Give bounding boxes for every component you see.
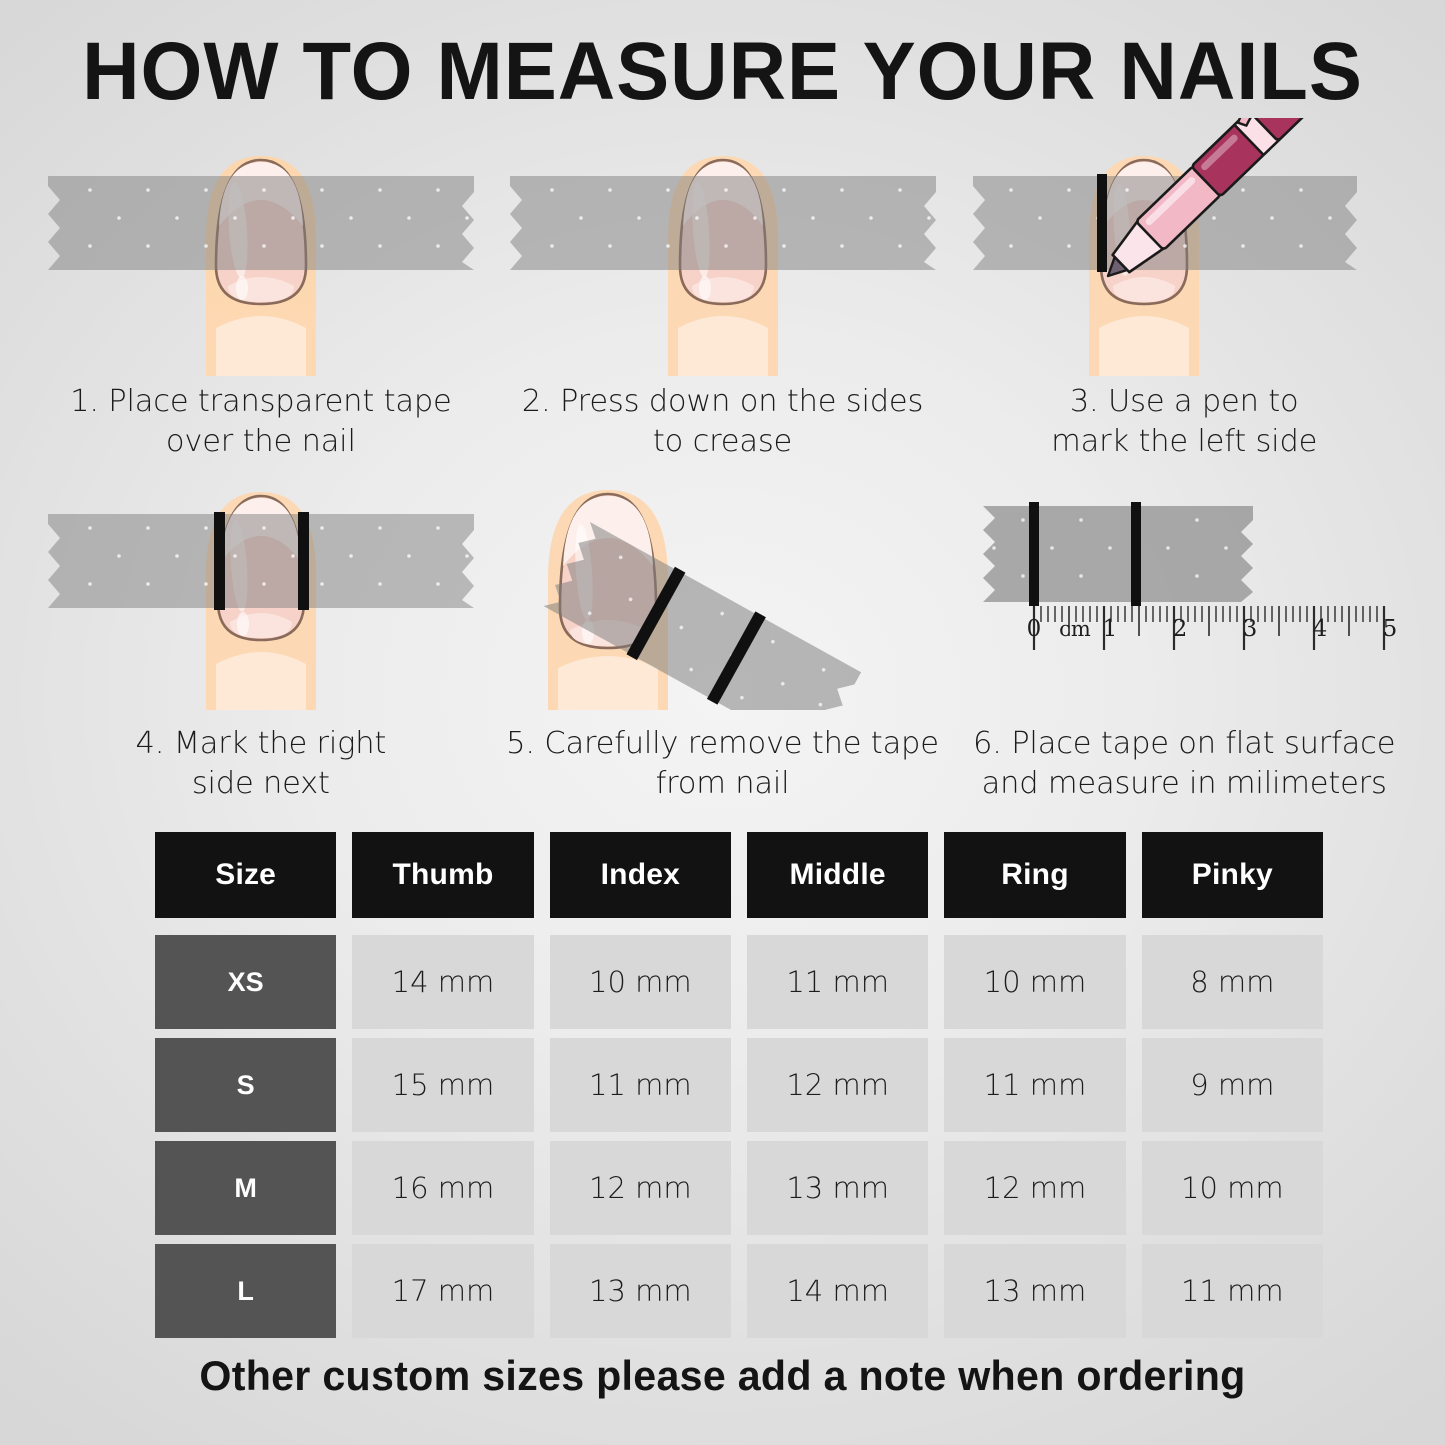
step-4-caption: 4. Mark the right side next [30,710,492,804]
step-2-illustration [492,118,954,376]
svg-text:5: 5 [1383,616,1398,642]
table-cell: 10 mm [550,935,731,1029]
table-cell: 11 mm [1142,1244,1323,1338]
svg-text:cm: cm [1059,617,1091,641]
table-cell: 15 mm [352,1038,533,1132]
table-header-pinky: Pinky [1142,832,1323,918]
table-cell: 9 mm [1142,1038,1323,1132]
table-cell: 11 mm [944,1038,1125,1132]
table-cell: 13 mm [944,1244,1125,1338]
step-1-caption-line2: over the nail [30,422,492,462]
table-header-ring: Ring [944,832,1125,918]
step-5-caption-line2: from nail [492,764,954,804]
step-4-caption-line2: side next [30,764,492,804]
step-6-illustration: 0 cm 1 2 3 4 5 [953,462,1415,710]
step-2-caption: 2. Press down on the sides to crease [492,376,954,462]
step-3-caption: 3. Use a pen to mark the left side [953,376,1415,462]
step-2-caption-line2: to crease [492,422,954,462]
step-5-caption-line1: 5. Carefully remove the tape [492,724,954,764]
table-cell: 17 mm [352,1244,533,1338]
step-4-illustration [30,462,492,710]
footer-note: Other custom sizes please add a note whe… [14,1352,1430,1400]
step-3-illustration [953,118,1415,376]
table-cell: 11 mm [747,935,928,1029]
table-cell: 14 mm [352,935,533,1029]
svg-text:3: 3 [1243,616,1258,642]
table-size-s: S [155,1038,336,1132]
step-1: 1. Place transparent tape over the nail [30,118,492,462]
table-header-middle: Middle [747,832,928,918]
size-table: SizeThumbIndexMiddleRingPinkyXS14 mm10 m… [155,832,1323,1347]
table-size-m: M [155,1141,336,1235]
step-6-caption-line2: and measure in milimeters [953,764,1415,804]
pen-mark-left [214,512,225,610]
table-cell: 11 mm [550,1038,731,1132]
page-title: HOW TO MEASURE YOUR NAILS [22,24,1424,120]
tape-mark-left [1029,502,1039,606]
step-6-caption-line1: 6. Place tape on flat surface [953,724,1415,764]
table-header-index: Index [550,832,731,918]
pen-mark-left [1097,174,1107,272]
svg-text:0: 0 [1027,616,1042,642]
step-1-caption-line1: 1. Place transparent tape [30,382,492,422]
svg-text:1: 1 [1103,616,1118,642]
step-3-caption-line2: mark the left side [953,422,1415,462]
table-cell: 10 mm [944,935,1125,1029]
step-3-caption-line1: 3. Use a pen to [953,382,1415,422]
steps-grid: 1. Place transparent tape over the nail [30,118,1415,804]
step-4: 4. Mark the right side next [30,462,492,804]
svg-text:2: 2 [1173,616,1188,642]
table-cell: 12 mm [747,1038,928,1132]
table-cell: 12 mm [550,1141,731,1235]
svg-text:4: 4 [1313,616,1328,642]
step-5: 5. Carefully remove the tape from nail [492,462,954,804]
step-3: 3. Use a pen to mark the left side [953,118,1415,462]
table-cell: 13 mm [550,1244,731,1338]
pen-mark-right [298,512,309,610]
step-2-caption-line1: 2. Press down on the sides [492,382,954,422]
step-4-caption-line1: 4. Mark the right [30,724,492,764]
table-size-xs: XS [155,935,336,1029]
table-cell: 14 mm [747,1244,928,1338]
step-5-caption: 5. Carefully remove the tape from nail [492,710,954,804]
table-cell: 8 mm [1142,935,1323,1029]
step-5-illustration [492,462,954,710]
table-cell: 10 mm [1142,1141,1323,1235]
step-1-caption: 1. Place transparent tape over the nail [30,376,492,462]
step-6: 0 cm 1 2 3 4 5 6. Place tape on flat sur… [953,462,1415,804]
step-2: 2. Press down on the sides to crease [492,118,954,462]
step-1-illustration [30,118,492,376]
tape-mark-right [1131,502,1141,606]
step-6-caption: 6. Place tape on flat surface and measur… [953,710,1415,804]
table-cell: 12 mm [944,1141,1125,1235]
table-header-thumb: Thumb [352,832,533,918]
table-header-size: Size [155,832,336,918]
table-size-l: L [155,1244,336,1338]
table-cell: 16 mm [352,1141,533,1235]
table-cell: 13 mm [747,1141,928,1235]
